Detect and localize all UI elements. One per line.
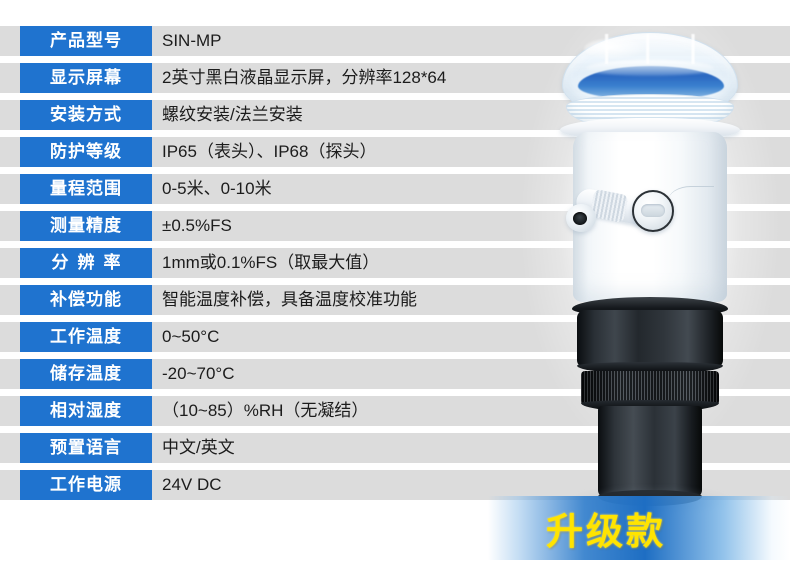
spec-value: 24V DC	[162, 470, 222, 500]
table-row: 相对湿度 （10~85）%RH（无凝结）	[0, 396, 790, 426]
spec-value: -20~70°C	[162, 359, 234, 389]
table-row: 分辨率 1mm或0.1%FS（取最大值）	[0, 248, 790, 278]
upgrade-banner: 升级款	[488, 496, 790, 560]
spec-label: 相对湿度	[20, 396, 152, 426]
table-row: 防护等级 IP65（表头）、IP68（探头）	[0, 137, 790, 167]
table-row: 预置语言 中文/英文	[0, 433, 790, 463]
table-row: 补偿功能 智能温度补偿，具备温度校准功能	[0, 285, 790, 315]
table-row: 工作温度 0~50°C	[0, 322, 790, 352]
table-row: 储存温度 -20~70°C	[0, 359, 790, 389]
spec-label: 储存温度	[20, 359, 152, 389]
spec-value: 2英寸黑白液晶显示屏，分辨率128*64	[162, 63, 446, 93]
spec-label: 补偿功能	[20, 285, 152, 315]
spec-label: 量程范围	[20, 174, 152, 204]
spec-label: 产品型号	[20, 26, 152, 56]
table-row: 安装方式 螺纹安装/法兰安装	[0, 100, 790, 130]
upgrade-banner-text: 升级款	[546, 501, 666, 555]
specification-table: 产品型号 SIN-MP 显示屏幕 2英寸黑白液晶显示屏，分辨率128*64 安装…	[0, 0, 790, 507]
spec-label: 预置语言	[20, 433, 152, 463]
spec-value: 中文/英文	[162, 433, 235, 463]
table-row: 测量精度 ±0.5%FS	[0, 211, 790, 241]
spec-value: 智能温度补偿，具备温度校准功能	[162, 285, 417, 315]
table-row: 显示屏幕 2英寸黑白液晶显示屏，分辨率128*64	[0, 63, 790, 93]
spec-label: 防护等级	[20, 137, 152, 167]
spec-label: 工作电源	[20, 470, 152, 500]
spec-value: 1mm或0.1%FS（取最大值）	[162, 248, 379, 278]
spec-label: 安装方式	[20, 100, 152, 130]
spec-value: 0~50°C	[162, 322, 219, 352]
spec-value: 0-5米、0-10米	[162, 174, 272, 204]
spec-label: 显示屏幕	[20, 63, 152, 93]
spec-label: 测量精度	[20, 211, 152, 241]
spec-value: ±0.5%FS	[162, 211, 232, 241]
table-row: 产品型号 SIN-MP	[0, 26, 790, 56]
spec-value: SIN-MP	[162, 26, 222, 56]
spec-label: 分辨率	[20, 248, 152, 278]
table-row: 量程范围 0-5米、0-10米	[0, 174, 790, 204]
spec-value: （10~85）%RH（无凝结）	[162, 396, 368, 426]
spec-label: 工作温度	[20, 322, 152, 352]
spec-value: 螺纹安装/法兰安装	[162, 100, 303, 130]
product-spec-page: 产品型号 SIN-MP 显示屏幕 2英寸黑白液晶显示屏，分辨率128*64 安装…	[0, 0, 790, 572]
spec-value: IP65（表头）、IP68（探头）	[162, 137, 376, 167]
